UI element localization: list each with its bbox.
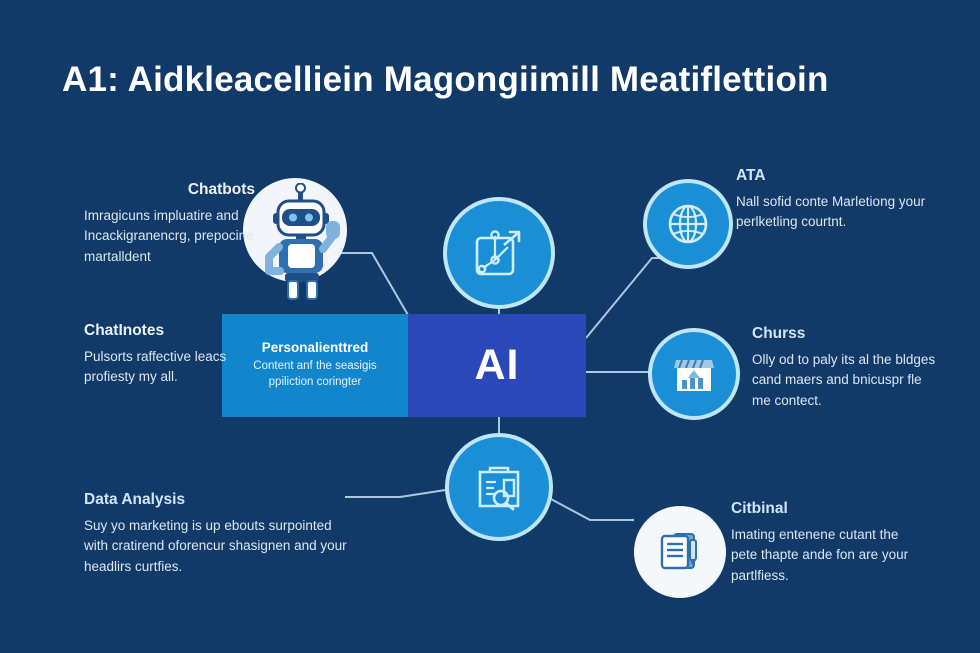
block-citbinal-heading: Citbinal — [731, 500, 926, 518]
personalized-heading: Personalienttred — [262, 340, 369, 355]
block-chatbots: Chatbots Imragicuns impluatire and Incac… — [84, 181, 299, 267]
network-growth-node[interactable] — [447, 201, 551, 305]
document-search-icon — [470, 458, 528, 516]
block-chatbots-heading: Chatbots — [84, 181, 299, 199]
connector-ai-globe — [586, 258, 700, 338]
block-ata: ATA Nall sofid conte Marletiong your per… — [736, 167, 936, 233]
block-chatnotes-heading: ChatInotes — [84, 322, 264, 340]
block-chatbots-body: Imragicuns impluatire and Incackigranenc… — [84, 206, 299, 268]
block-data-analysis-heading: Data Analysis — [84, 491, 354, 509]
block-churss-body: Olly od to paly its al the bldges cand m… — [752, 350, 937, 412]
block-chatnotes: ChatInotes Pulsorts raffective leacs pro… — [84, 322, 264, 388]
globe-icon — [663, 199, 713, 249]
block-data-analysis-body: Suy yo marketing is up ebouts surpointed… — [84, 516, 354, 578]
block-data-analysis: Data Analysis Suy yo marketing is up ebo… — [84, 491, 354, 577]
block-ata-heading: ATA — [736, 167, 936, 185]
block-citbinal-body: Imating entenene cutant the pete thapte … — [731, 525, 926, 587]
globe-node[interactable] — [647, 183, 729, 265]
ai-core-panel[interactable]: AI — [408, 314, 586, 417]
bar-chart-storefront-node[interactable] — [652, 332, 736, 416]
block-citbinal: Citbinal Imating entenene cutant the pet… — [731, 500, 926, 586]
connector-dataanalysis — [345, 489, 452, 497]
infographic-canvas: A1: Aidkleacelliein Magongiimill Meatifl… — [0, 0, 980, 653]
document-search-node[interactable] — [449, 437, 549, 537]
block-ata-body: Nall sofid conte Marletiong your perlket… — [736, 192, 936, 233]
block-chatnotes-body: Pulsorts raffective leacs profiesty my a… — [84, 347, 264, 388]
block-churss-heading: Churss — [752, 325, 937, 343]
connector-insight-doc — [549, 498, 634, 520]
bar-chart-storefront-icon — [668, 348, 720, 400]
ai-label: AI — [475, 341, 520, 390]
page-title: A1: Aidkleacelliein Magongiimill Meatifl… — [62, 60, 922, 100]
network-growth-icon — [468, 222, 530, 284]
block-churss: Churss Olly od to paly its al the bldges… — [752, 325, 937, 411]
notepad-pencil-icon — [652, 524, 708, 580]
notepad-pencil-node[interactable] — [634, 506, 726, 598]
